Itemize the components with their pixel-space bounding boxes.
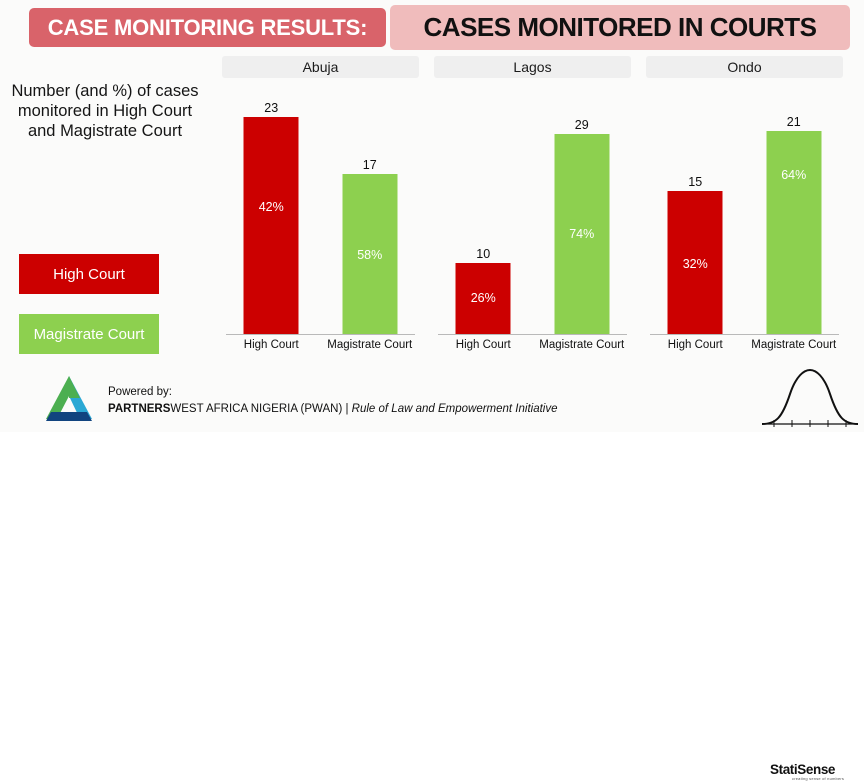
bar-group-magistrate-court: 29 74% [533,90,632,334]
bar-value-lagos-magistrate-court: 29 [575,118,589,132]
legend-item-high-court[interactable]: High Court [19,254,159,294]
panel-header-ondo: Ondo [646,56,843,78]
bar-percent-ondo-high-court: 32% [683,257,708,271]
category-labels-lagos: High Court Magistrate Court [434,339,631,351]
panel-header-abuja: Abuja [222,56,419,78]
category-label-magistrate-court: Magistrate Court [321,339,420,351]
plot-area-abuja: 23 42% 17 58% [222,90,419,335]
title-badge-secondary: CASES MONITORED IN COURTS [390,5,850,50]
legend-item-magistrate-court[interactable]: Magistrate Court [19,314,159,354]
footer-powered-by: Powered by: [108,386,172,398]
statisense-tagline: creating sense of numbers [792,776,844,781]
bar-abuja-high-court[interactable] [244,117,299,334]
page-footer: Powered by: PARTNERSWEST AFRICA NIGERIA … [0,362,864,432]
chart-description: Number (and %) of cases monitored in Hig… [10,81,200,141]
category-label-magistrate-court: Magistrate Court [533,339,632,351]
bar-ondo-magistrate-court[interactable] [766,131,821,334]
statisense-wordmark: StatiSense [770,762,835,777]
bar-value-ondo-high-court: 15 [688,175,702,189]
footer-organization: PARTNERSWEST AFRICA NIGERIA (PWAN) | Rul… [108,403,558,415]
panel-header-lagos: Lagos [434,56,631,78]
bar-percent-abuja-high-court: 42% [259,200,284,214]
statisense-bellcurve-icon [760,362,860,430]
footer-org-rest: WEST AFRICA NIGERIA (PWAN) | [170,403,351,415]
bar-percent-abuja-magistrate-court: 58% [357,248,382,262]
category-label-high-court: High Court [646,339,745,351]
bar-group-high-court: 15 32% [646,90,745,334]
bar-group-magistrate-court: 17 58% [321,90,420,334]
bar-percent-lagos-magistrate-court: 74% [569,227,594,241]
category-labels-ondo: High Court Magistrate Court [646,339,843,351]
panel-title-lagos: Lagos [513,59,551,75]
footer-org-italic: Rule of Law and Empowerment Initiative [352,403,558,415]
bar-group-high-court: 23 42% [222,90,321,334]
bar-value-abuja-magistrate-court: 17 [363,158,377,172]
title-badge-primary-label: CASE MONITORING RESULTS: [48,15,368,41]
x-axis-line [438,334,627,335]
bar-value-ondo-magistrate-court: 21 [787,115,801,129]
plot-area-lagos: 10 26% 29 74% [434,90,631,335]
bar-value-lagos-high-court: 10 [476,247,490,261]
title-badge-secondary-label: CASES MONITORED IN COURTS [424,12,817,43]
bar-percent-lagos-high-court: 26% [471,291,496,305]
chart-panel-abuja: Abuja 23 42% 17 58% High Court Magistrat… [222,56,419,358]
bar-group-magistrate-court: 21 64% [745,90,844,334]
bar-percent-ondo-magistrate-court: 64% [781,168,806,182]
category-label-high-court: High Court [222,339,321,351]
plot-area-ondo: 15 32% 21 64% [646,90,843,335]
footer-org-bold: PARTNERS [108,403,170,415]
legend-item-magistrate-court-label: Magistrate Court [34,326,145,343]
panel-title-abuja: Abuja [303,59,339,75]
chart-panel-ondo: Ondo 15 32% 21 64% High Court Magistrate… [646,56,843,358]
category-label-high-court: High Court [434,339,533,351]
x-axis-line [650,334,839,335]
page-header: CASE MONITORING RESULTS: CASES MONITORED… [0,0,864,53]
bar-value-abuja-high-court: 23 [264,101,278,115]
title-badge-primary: CASE MONITORING RESULTS: [29,8,386,47]
pwan-logo-icon [40,374,98,426]
category-labels-abuja: High Court Magistrate Court [222,339,419,351]
legend-item-high-court-label: High Court [53,266,125,283]
panel-title-ondo: Ondo [727,59,761,75]
legend-panel: Number (and %) of cases monitored in Hig… [0,58,212,358]
bar-group-high-court: 10 26% [434,90,533,334]
chart-panel-lagos: Lagos 10 26% 29 74% High Court Magistrat… [434,56,631,358]
category-label-magistrate-court: Magistrate Court [745,339,844,351]
x-axis-line [226,334,415,335]
